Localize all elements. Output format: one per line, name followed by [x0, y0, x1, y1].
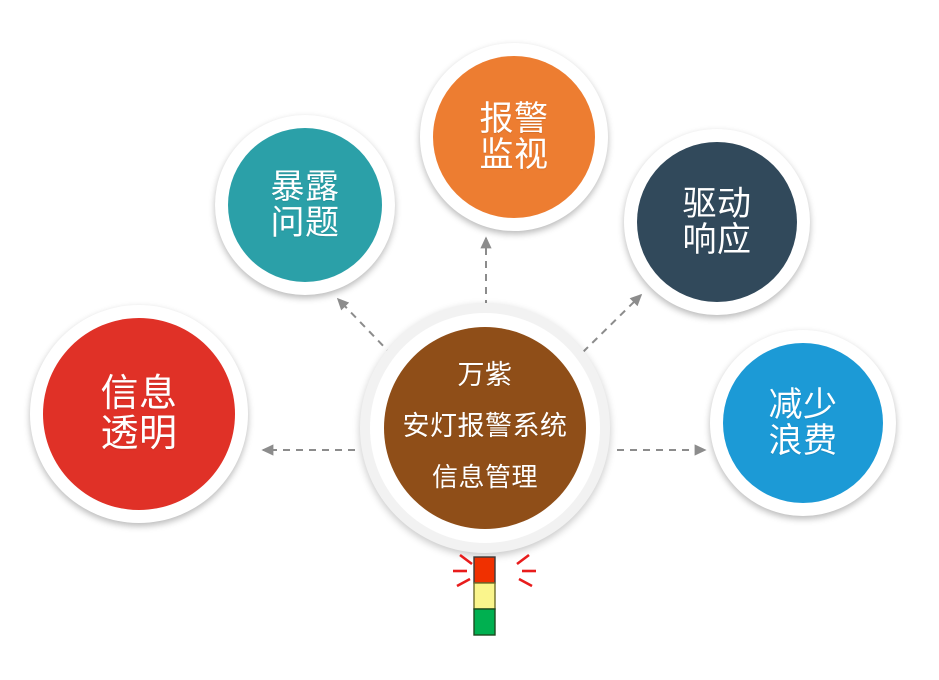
- connector-to-expose-problem: [338, 299, 392, 355]
- center-hub-node[interactable]: 万紫 安灯报警系统 信息管理: [360, 303, 610, 553]
- green-lamp: [474, 609, 495, 635]
- node-label-alarm-monitor: 报警 监视: [480, 101, 549, 173]
- node-label-reduce-waste: 减少 浪费: [769, 387, 838, 459]
- node-disc: 驱动 响应: [637, 142, 797, 302]
- andon-system-diagram: 暴露 问题 报警 监视 驱动 响应 信息 透明 减少 浪费 万紫 安: [0, 0, 939, 680]
- center-label-line1: 万紫: [458, 361, 513, 390]
- center-label-line2: 安灯报警系统: [403, 412, 568, 441]
- red-lamp: [474, 557, 495, 583]
- node-alarm-monitor[interactable]: 报警 监视: [420, 43, 608, 231]
- connector-to-drive-response: [583, 295, 641, 352]
- node-info-transparent[interactable]: 信息 透明: [30, 305, 248, 523]
- center-label-line3: 信息管理: [432, 464, 538, 492]
- node-disc: 减少 浪费: [723, 343, 883, 503]
- yellow-lamp: [474, 583, 495, 609]
- node-label-info-transparent: 信息 透明: [100, 374, 177, 455]
- andon-light-tower: [450, 545, 550, 645]
- node-label-expose-problem: 暴露 问题: [271, 169, 340, 241]
- center-disc: 万紫 安灯报警系统 信息管理: [384, 327, 586, 529]
- node-expose-problem[interactable]: 暴露 问题: [215, 115, 395, 295]
- node-disc: 信息 透明: [43, 318, 235, 510]
- node-drive-response[interactable]: 驱动 响应: [624, 129, 810, 315]
- node-disc: 报警 监视: [433, 56, 595, 218]
- node-reduce-waste[interactable]: 减少 浪费: [710, 330, 896, 516]
- node-label-drive-response: 驱动 响应: [683, 186, 752, 258]
- node-disc: 暴露 问题: [228, 128, 382, 282]
